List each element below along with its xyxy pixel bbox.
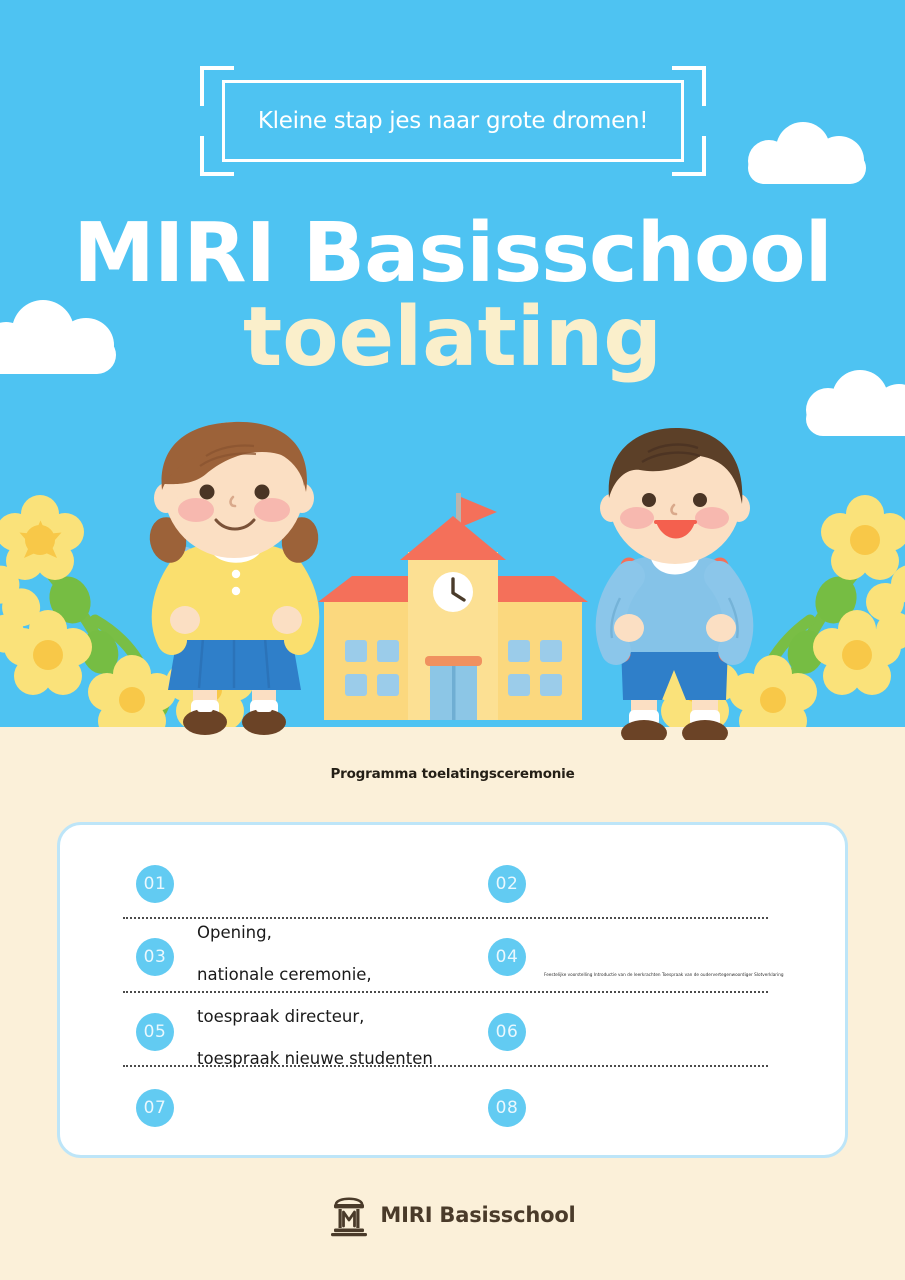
schedule-badge-08[interactable]: 08 <box>488 1089 526 1127</box>
page-title: MIRI Basisschool toelating <box>0 212 905 379</box>
badge-label: 01 <box>144 874 167 894</box>
schedule-text-ceremonie: nationale ceremonie, <box>197 965 372 984</box>
schoolboy-figure <box>600 428 750 740</box>
schedule-badge-02[interactable]: 02 <box>488 865 526 903</box>
pillar-monogram-icon <box>329 1193 369 1237</box>
badge-label: 06 <box>496 1022 519 1042</box>
footer-school-name: MIRI Basisschool <box>380 1203 575 1227</box>
schedule-badge-06[interactable]: 06 <box>488 1013 526 1051</box>
schedule-text-studenten: toespraak nieuwe studenten <box>197 1049 433 1068</box>
schedule-badge-01[interactable]: 01 <box>136 865 174 903</box>
tagline-badge: Kleine stap jes naar grote dromen! <box>200 66 706 176</box>
schedule-divider-2 <box>123 991 768 993</box>
badge-label: 07 <box>144 1098 167 1118</box>
schedule-badge-03[interactable]: 03 <box>136 938 174 976</box>
poster-root: Kleine stap jes naar grote dromen! MIRI … <box>0 0 905 1280</box>
badge-label: 02 <box>496 874 519 894</box>
schedule-rows: 01 03 05 07 02 04 06 08 <box>60 825 845 1155</box>
schedule-card: 01 03 05 07 02 04 06 08 <box>57 822 848 1158</box>
schedule-divider-1 <box>123 917 768 919</box>
footer: MIRI Basisschool <box>0 1193 905 1237</box>
schoolgirl-figure <box>146 422 323 735</box>
badge-label: 08 <box>496 1098 519 1118</box>
tagline-text: Kleine stap jes naar grote dromen! <box>200 66 706 176</box>
schedule-badge-04[interactable]: 04 <box>488 938 526 976</box>
schedule-micro-caption: Feestelijke voorstelling Introductie van… <box>544 972 784 977</box>
school-building <box>318 493 588 720</box>
badge-label: 04 <box>496 947 519 967</box>
program-section-label: Programma toelatingsceremonie <box>0 766 905 782</box>
title-line-2: toelating <box>0 296 905 380</box>
badge-label: 05 <box>144 1022 167 1042</box>
schedule-text-directeur: toespraak directeur, <box>197 1007 364 1026</box>
schedule-text-opening: Opening, <box>197 923 272 942</box>
schedule-badge-07[interactable]: 07 <box>136 1089 174 1127</box>
schedule-badge-05[interactable]: 05 <box>136 1013 174 1051</box>
title-line-1: MIRI Basisschool <box>73 206 831 301</box>
badge-label: 03 <box>144 947 167 967</box>
